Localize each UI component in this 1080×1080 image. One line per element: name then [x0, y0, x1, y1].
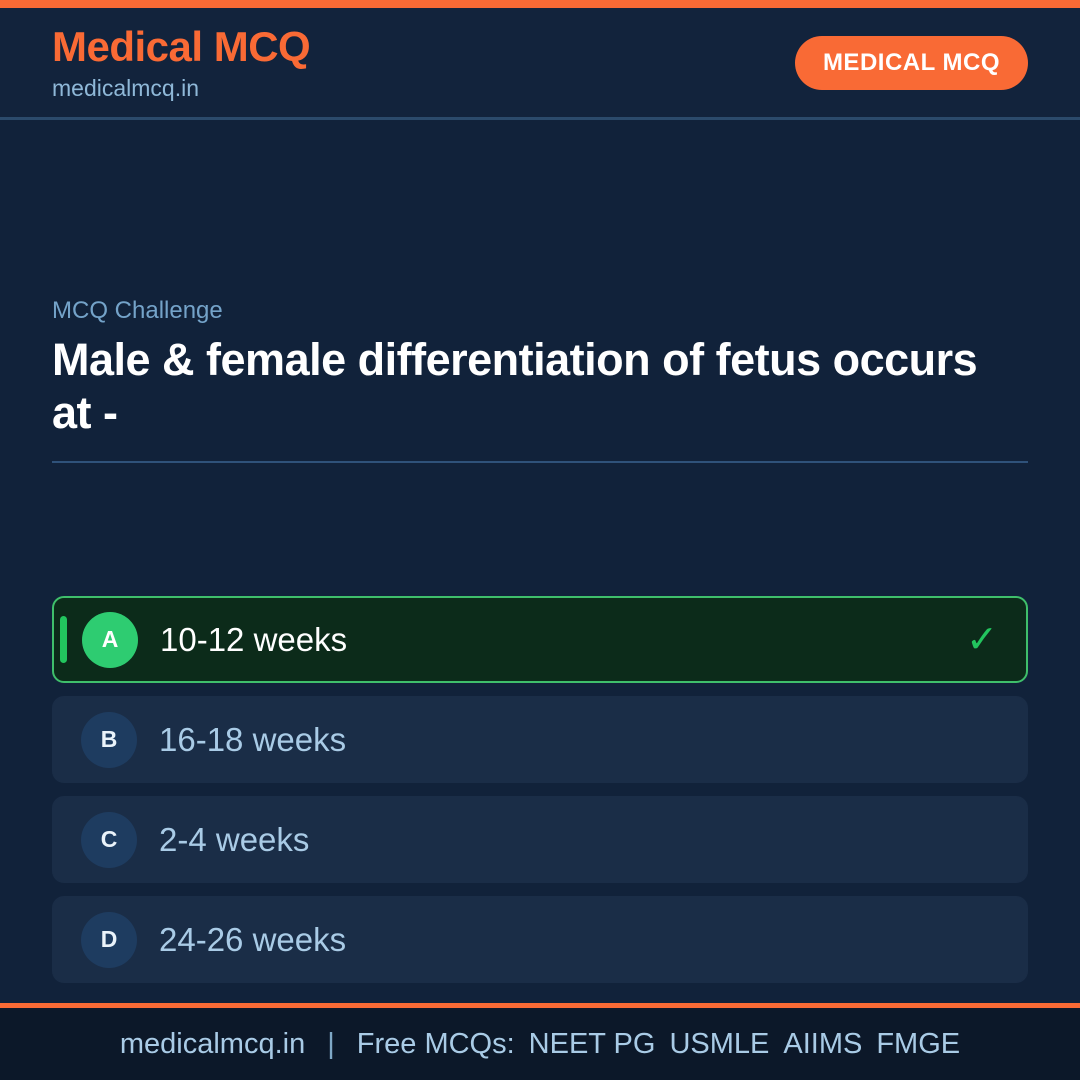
option-label: 10-12 weeks — [160, 623, 347, 656]
correct-accent-bar — [60, 616, 67, 663]
option-label: 2-4 weeks — [159, 823, 309, 856]
option-letter-badge: D — [81, 912, 137, 968]
footer-exam-fmge[interactable]: FMGE — [876, 1028, 960, 1061]
mcq-card: Medical MCQ medicalmcq.in MEDICAL MCQ MC… — [0, 0, 1080, 1080]
option-letter-badge: A — [82, 612, 138, 668]
question-divider — [52, 461, 1028, 463]
question-eyebrow: MCQ Challenge — [52, 298, 1028, 324]
options-list: A 10-12 weeks ✓ B 16-18 weeks C 2-4 week… — [52, 596, 1028, 983]
footer-site[interactable]: medicalmcq.in — [120, 1028, 305, 1061]
main-content: MCQ Challenge Male & female differentiat… — [0, 120, 1080, 1003]
brand-title: Medical MCQ — [52, 26, 310, 68]
footer-bar: medicalmcq.in | Free MCQs: NEET PG USMLE… — [0, 1008, 1080, 1080]
check-icon: ✓ — [966, 621, 998, 659]
footer-separator: | — [327, 1028, 335, 1061]
option-row-c[interactable]: C 2-4 weeks — [52, 796, 1028, 883]
option-row-d[interactable]: D 24-26 weeks — [52, 896, 1028, 983]
option-label: 24-26 weeks — [159, 923, 346, 956]
option-row-a[interactable]: A 10-12 weeks ✓ — [52, 596, 1028, 683]
option-letter-badge: B — [81, 712, 137, 768]
brand-domain: medicalmcq.in — [52, 77, 310, 100]
option-row-b[interactable]: B 16-18 weeks — [52, 696, 1028, 783]
brand-block: Medical MCQ medicalmcq.in — [52, 26, 310, 100]
top-accent-rule — [0, 0, 1080, 8]
header-badge[interactable]: MEDICAL MCQ — [795, 36, 1028, 90]
question-text: Male & female differentiation of fetus o… — [52, 334, 1012, 438]
option-letter-badge: C — [81, 812, 137, 868]
footer-content: medicalmcq.in | Free MCQs: NEET PG USMLE… — [120, 1028, 960, 1061]
footer-exam-neet-pg[interactable]: NEET PG — [529, 1028, 656, 1061]
question-zone: MCQ Challenge Male & female differentiat… — [52, 298, 1028, 463]
option-label: 16-18 weeks — [159, 723, 346, 756]
header-bar: Medical MCQ medicalmcq.in MEDICAL MCQ — [0, 8, 1080, 120]
footer-label: Free MCQs: — [357, 1028, 515, 1061]
footer-exam-aiims[interactable]: AIIMS — [783, 1028, 862, 1061]
footer-exam-usmle[interactable]: USMLE — [669, 1028, 769, 1061]
